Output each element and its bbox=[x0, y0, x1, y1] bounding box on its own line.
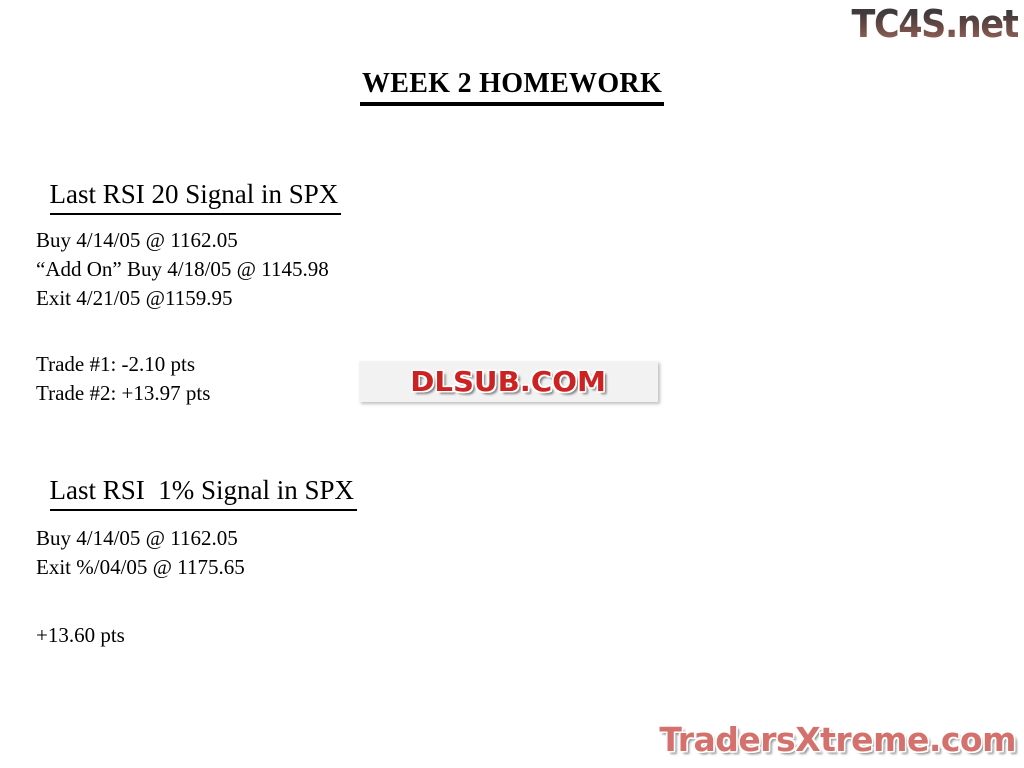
trade-line-buy-1: Buy 4/14/05 @ 1162.05 bbox=[36, 226, 238, 255]
watermark-tc4s: TC4S.net bbox=[851, 2, 1018, 46]
section-heading-rsi20-text: Last RSI 20 Signal in SPX bbox=[50, 179, 342, 215]
trade-line-addon: “Add On” Buy 4/18/05 @ 1145.98 bbox=[36, 255, 329, 284]
watermark-dlsub-text: DLSUB.COM bbox=[411, 367, 607, 397]
trade-line-exit-1: Exit 4/21/05 @1159.95 bbox=[36, 284, 232, 313]
result-line-trade-2: Trade #2: +13.97 pts bbox=[36, 379, 210, 408]
section-heading-rsi1pct-text: Last RSI 1% Signal in SPX bbox=[50, 475, 358, 511]
result-line-total: +13.60 pts bbox=[36, 621, 125, 650]
trade-line-exit-2: Exit %/04/05 @ 1175.65 bbox=[36, 553, 245, 582]
page-title-text: WEEK 2 HOMEWORK bbox=[360, 68, 664, 106]
slide-page: { "slide": { "title": "WEEK 2 HOMEWORK",… bbox=[0, 0, 1024, 768]
watermark-dlsub: DLSUB.COM bbox=[359, 361, 658, 402]
result-line-trade-1: Trade #1: -2.10 pts bbox=[36, 350, 195, 379]
section-heading-rsi20: Last RSI 20 Signal in SPX bbox=[36, 148, 341, 215]
watermark-tradersxtreme: TradersXtreme.com bbox=[659, 720, 1016, 760]
trade-line-buy-2: Buy 4/14/05 @ 1162.05 bbox=[36, 524, 238, 553]
page-title: WEEK 2 HOMEWORK bbox=[0, 68, 1024, 106]
section-heading-rsi1pct: Last RSI 1% Signal in SPX bbox=[36, 444, 357, 511]
watermark-tradersxtreme-text: TradersXtreme.com bbox=[659, 720, 1016, 759]
